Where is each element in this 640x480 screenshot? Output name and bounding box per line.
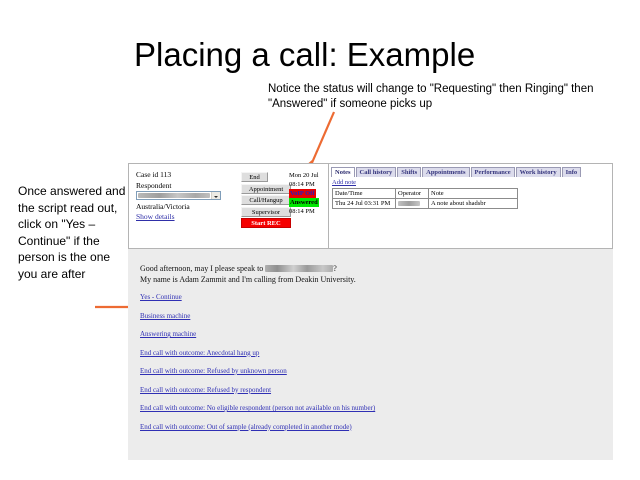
script-outcome-links: Yes - Continue Business machine Answerin…: [140, 293, 609, 441]
link-row: End call with outcome: Refused by respon…: [140, 386, 609, 405]
respondent-label: Respondent: [136, 181, 228, 190]
link-yes-continue[interactable]: Yes - Continue: [140, 293, 182, 302]
call-action-buttons: End Appointment Call/Hangup Supervisor S…: [241, 172, 291, 230]
script-line-1: Good afternoon, may I please speak to ?: [140, 263, 356, 274]
show-details-link[interactable]: Show details: [136, 212, 175, 221]
link-row: End call with outcome: No eligible respo…: [140, 404, 609, 423]
link-row: Yes - Continue: [140, 293, 609, 312]
voip-status-badge: VoIP Off: [289, 189, 316, 198]
supervisor-button[interactable]: Supervisor: [241, 207, 291, 217]
cell-note: A note about shadsbr: [429, 199, 518, 209]
column-header-datetime: Date/Time: [333, 189, 396, 199]
link-row: End call with outcome: Out of sample (al…: [140, 423, 609, 442]
status-date: Mon 20 Jul: [289, 171, 325, 180]
call-hangup-button[interactable]: Call/Hangup: [241, 195, 291, 205]
cell-operator: [396, 199, 429, 209]
column-header-note: Note: [429, 189, 518, 199]
case-id-label: Case id 113: [136, 170, 228, 179]
call-status-badge: Answered: [289, 198, 319, 207]
status-time-first: 08:14 PM: [289, 180, 325, 189]
link-row: End call with outcome: Anecdotal hang up: [140, 349, 609, 368]
tab-work-history[interactable]: Work history: [516, 167, 561, 177]
tab-appointments[interactable]: Appointments: [422, 167, 469, 177]
link-end-call-no-eligible-respondent[interactable]: End call with outcome: No eligible respo…: [140, 404, 375, 413]
end-button[interactable]: End: [241, 172, 268, 182]
notes-tab-content: Add note Date/Time Operator Note Thu 24 …: [332, 178, 609, 209]
annotation-click-yes-continue: Once answered and the script read out, c…: [18, 183, 130, 282]
tab-notes[interactable]: Notes: [331, 167, 355, 177]
script-line-1-before: Good afternoon, may I please speak to: [140, 264, 265, 273]
respondent-name-redacted: [265, 265, 333, 272]
embedded-app-screenshot: Case id 113 Respondent Australia/Victori…: [128, 163, 613, 460]
link-row: End call with outcome: Refused by unknow…: [140, 367, 609, 386]
case-panel: Case id 113 Respondent Australia/Victori…: [128, 163, 328, 249]
script-line-1-after: ?: [333, 264, 337, 273]
link-end-call-anecdotal-hang-up[interactable]: End call with outcome: Anecdotal hang up: [140, 349, 259, 358]
chevron-down-icon[interactable]: [211, 192, 220, 199]
operator-value-redacted: [398, 201, 420, 206]
status-column: Mon 20 Jul 08:14 PM VoIP Off Answered 08…: [289, 171, 325, 216]
tab-performance[interactable]: Performance: [471, 167, 515, 177]
tab-info[interactable]: Info: [562, 167, 582, 177]
status-time-second: 08:14 PM: [289, 207, 325, 216]
column-header-operator: Operator: [396, 189, 429, 199]
app-header-region: Case id 113 Respondent Australia/Victori…: [128, 163, 613, 249]
script-text: Good afternoon, may I please speak to ? …: [140, 263, 356, 285]
link-answering-machine[interactable]: Answering machine: [140, 330, 196, 339]
link-row: Business machine: [140, 312, 609, 331]
table-header-row: Date/Time Operator Note: [333, 189, 518, 199]
case-info-block: Case id 113 Respondent Australia/Victori…: [136, 170, 228, 221]
timezone-label: Australia/Victoria: [136, 202, 228, 211]
respondent-select[interactable]: [136, 191, 221, 200]
tabs-panel: Notes Call history Shifts Appointments P…: [328, 163, 613, 249]
link-row: Answering machine: [140, 330, 609, 349]
page-title: Placing a call: Example: [134, 36, 475, 74]
link-business-machine[interactable]: Business machine: [140, 312, 190, 321]
annotation-status-change: Notice the status will change to "Reques…: [268, 82, 598, 112]
link-end-call-refused-unknown-person[interactable]: End call with outcome: Refused by unknow…: [140, 367, 287, 376]
appointment-button[interactable]: Appointment: [241, 184, 291, 194]
script-body-region: Good afternoon, may I please speak to ? …: [128, 249, 613, 460]
add-note-link[interactable]: Add note: [332, 179, 356, 186]
notes-table: Date/Time Operator Note Thu 24 Jul 03:31…: [332, 188, 518, 209]
respondent-value-redacted: [138, 193, 210, 198]
link-end-call-refused-respondent[interactable]: End call with outcome: Refused by respon…: [140, 386, 271, 395]
tab-shifts[interactable]: Shifts: [397, 167, 421, 177]
tab-bar: Notes Call history Shifts Appointments P…: [331, 166, 582, 177]
start-rec-button[interactable]: Start REC: [241, 218, 291, 228]
tab-call-history[interactable]: Call history: [356, 167, 397, 177]
link-end-call-out-of-sample[interactable]: End call with outcome: Out of sample (al…: [140, 423, 352, 432]
cell-datetime: Thu 24 Jul 03:31 PM: [333, 199, 396, 209]
script-line-2: My name is Adam Zammit and I'm calling f…: [140, 274, 356, 285]
table-row[interactable]: Thu 24 Jul 03:31 PM A note about shadsbr: [333, 199, 518, 209]
